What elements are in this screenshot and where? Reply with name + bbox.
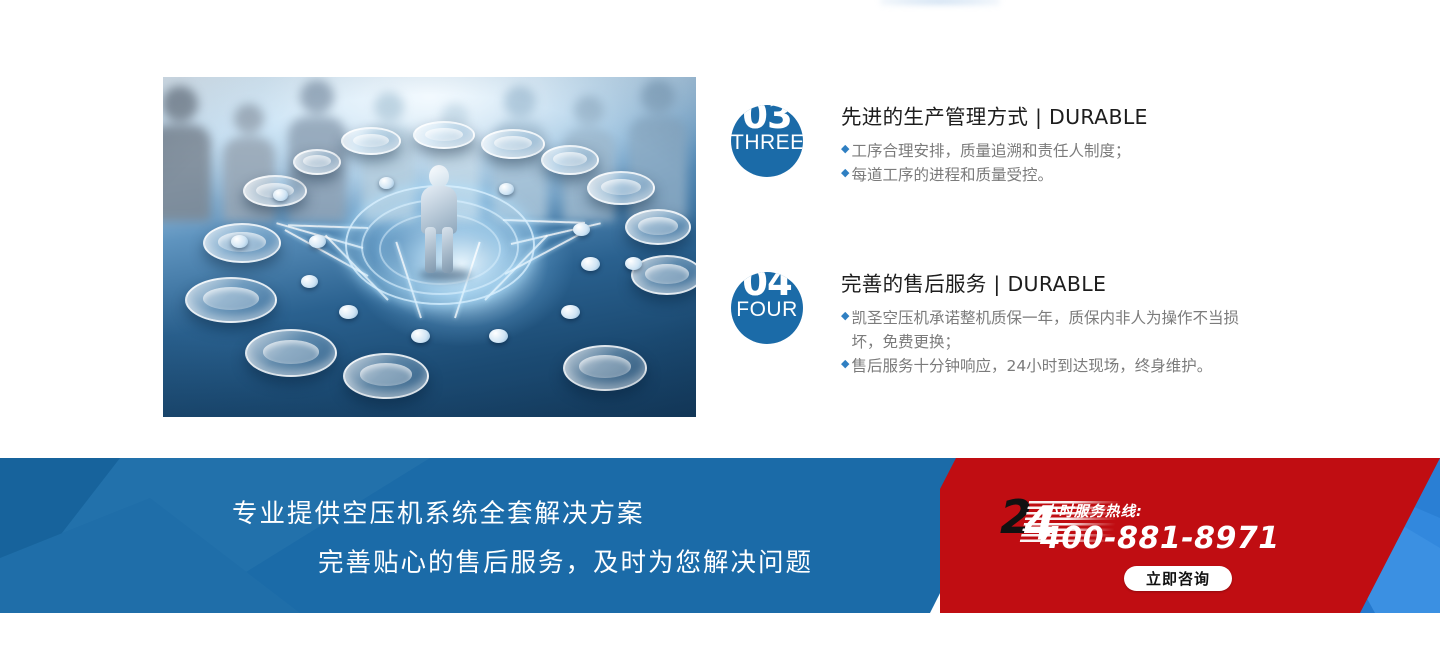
bullet-text: 每道工序的进程和质量受控。 [851, 163, 1053, 187]
banner-line-1: 专业提供空压机系统全套解决方案 [232, 493, 940, 530]
diamond-bullet-icon: ◆ [841, 163, 849, 187]
feature-title-04: 完善的售后服务 | DURABLE [841, 272, 1251, 297]
consult-now-label: 立即咨询 [1146, 568, 1210, 589]
banner-line-2: 完善贴心的售后服务，及时为您解决问题 [318, 542, 940, 579]
badge-word: FOUR [731, 298, 803, 322]
diamond-bullet-icon: ◆ [841, 139, 849, 163]
feature-badge-03: 03 THREE [731, 105, 803, 177]
top-edge-smudge [880, 0, 1000, 6]
banner-headline-group: 专业提供空压机系统全套解决方案 完善贴心的售后服务，及时为您解决问题 [0, 458, 940, 613]
bullet-text: 工序合理安排，质量追溯和责任人制度； [851, 139, 1130, 163]
bullet-item: ◆ 售后服务十分钟响应，24小时到达现场，终身维护。 [841, 354, 1251, 378]
feature-badge-04: 04 FOUR [731, 272, 803, 344]
feature-title-03: 先进的生产管理方式 | DURABLE [841, 105, 1148, 130]
feature-block-04: 04 FOUR 完善的售后服务 | DURABLE ◆ 凯圣空压机承诺整机质保一… [731, 272, 1251, 378]
hotline-label: 小时服务热线: [1043, 500, 1143, 521]
badge-number: 04 [731, 272, 803, 301]
marketing-landing-section: 03 THREE 先进的生产管理方式 | DURABLE ◆ 工序合理安排，质量… [0, 0, 1440, 663]
bullet-text: 售后服务十分钟响应，24小时到达现场，终身维护。 [851, 354, 1212, 378]
bullet-item: ◆ 工序合理安排，质量追溯和责任人制度； [841, 139, 1148, 163]
consult-now-button[interactable]: 立即咨询 [1124, 566, 1232, 591]
network-illustration [163, 77, 696, 417]
bullet-text: 凯圣空压机承诺整机质保一年，质保内非人为操作不当损坏，免费更换； [851, 306, 1251, 354]
diamond-bullet-icon: ◆ [841, 354, 849, 378]
feature-block-03: 03 THREE 先进的生产管理方式 | DURABLE ◆ 工序合理安排，质量… [731, 105, 1148, 187]
feature-bullets-03: ◆ 工序合理安排，质量追溯和责任人制度； ◆ 每道工序的进程和质量受控。 [841, 139, 1148, 187]
hotline-phone-number: 400-881-8971 [1040, 524, 1280, 554]
badge-word: THREE [731, 131, 803, 155]
badge-number: 03 [731, 105, 803, 134]
bullet-item: ◆ 每道工序的进程和质量受控。 [841, 163, 1148, 187]
bullet-item: ◆ 凯圣空压机承诺整机质保一年，质保内非人为操作不当损坏，免费更换； [841, 306, 1251, 354]
feature-bullets-04: ◆ 凯圣空压机承诺整机质保一年，质保内非人为操作不当损坏，免费更换； ◆ 售后服… [841, 306, 1251, 378]
illustration-vignette [163, 77, 696, 417]
diamond-bullet-icon: ◆ [841, 306, 849, 354]
